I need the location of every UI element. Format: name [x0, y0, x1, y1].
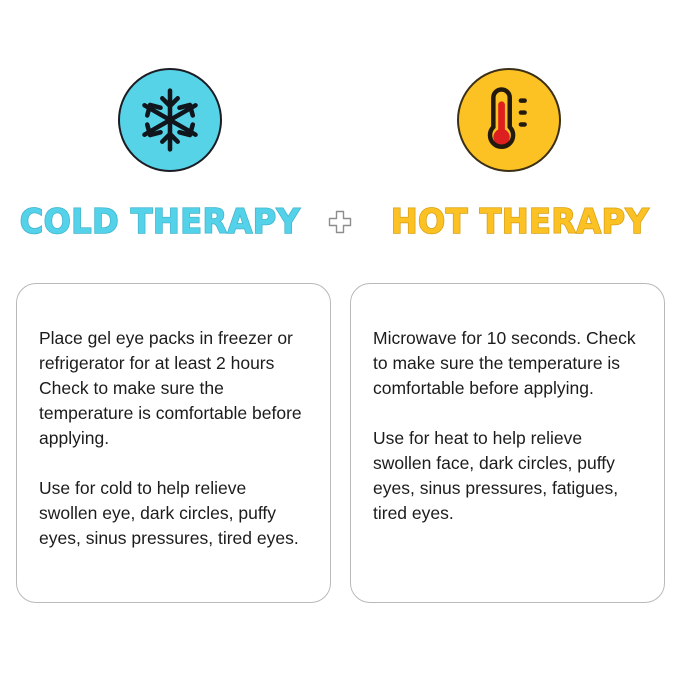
cold-card-paragraph-1: Place gel eye packs in freezer or refrig…	[39, 326, 308, 451]
plus-icon	[327, 209, 353, 235]
therapy-cards: Place gel eye packs in freezer or refrig…	[16, 283, 665, 603]
hot-therapy-card: Microwave for 10 seconds. Check to make …	[350, 283, 665, 603]
thermometer-icon	[478, 85, 540, 155]
infographic-root: COLD THERAPY HOT THERAPY Place gel eye p…	[0, 0, 679, 679]
hot-therapy-badge	[457, 68, 561, 172]
hot-card-paragraph-1: Microwave for 10 seconds. Check to make …	[373, 326, 642, 401]
cold-icon-cell	[0, 64, 340, 176]
cold-therapy-card: Place gel eye packs in freezer or refrig…	[16, 283, 331, 603]
hot-icon-cell	[340, 64, 679, 176]
cold-therapy-heading: COLD THERAPY	[10, 205, 309, 239]
cold-card-paragraph-2: Use for cold to help relieve swollen eye…	[39, 476, 308, 551]
headings-row: COLD THERAPY HOT THERAPY	[0, 198, 679, 246]
hot-card-paragraph-2: Use for heat to help relieve swollen fac…	[373, 426, 642, 526]
icon-row	[0, 64, 679, 176]
plus-separator	[319, 209, 361, 235]
cold-therapy-badge	[118, 68, 222, 172]
snowflake-icon	[135, 85, 205, 155]
hot-therapy-heading: HOT THERAPY	[370, 205, 669, 239]
